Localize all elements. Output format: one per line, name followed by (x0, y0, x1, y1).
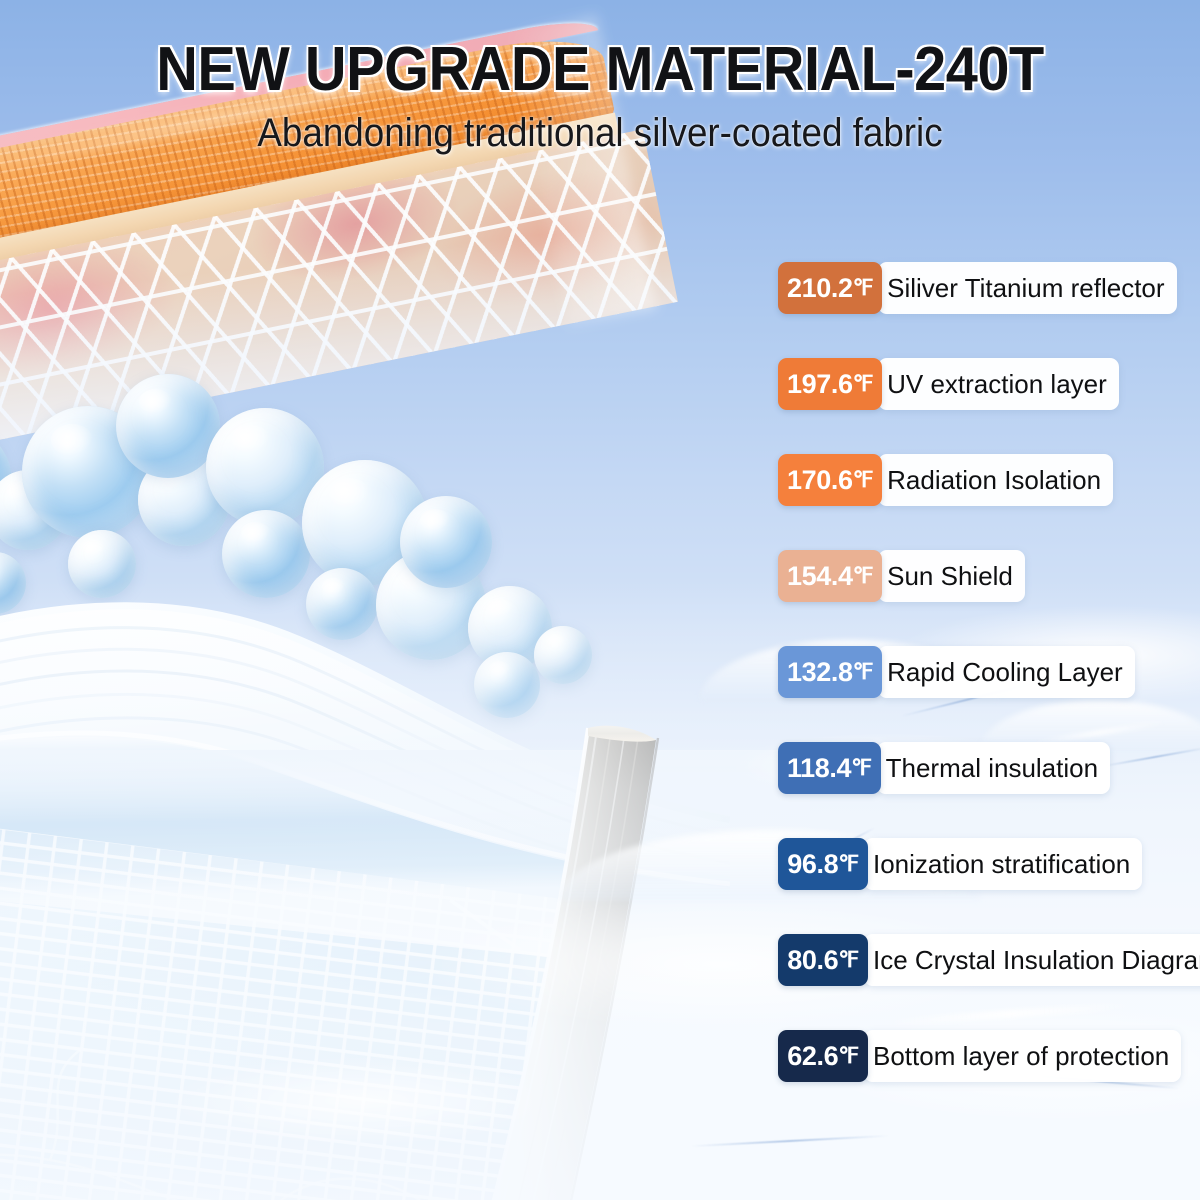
temperature-value: 132.8 (787, 657, 853, 688)
layer-name-label: Bottom layer of protection (864, 1030, 1181, 1082)
temperature-value: 170.6 (787, 465, 853, 496)
layer-name-label: Thermal insulation (877, 742, 1110, 794)
temperature-badge: 62.6℉ (778, 1030, 868, 1082)
layer-name-label: Siliver Titanium reflector (878, 262, 1176, 314)
temperature-badge: 80.6℉ (778, 934, 868, 986)
layer-legend-row: 96.8℉Ionization stratification (778, 838, 1178, 890)
temperature-badge: 118.4℉ (778, 742, 881, 794)
layer-name-label: Sun Shield (878, 550, 1025, 602)
heading-block: NEW UPGRADE MATERIAL-240T Abandoning tra… (0, 0, 1200, 156)
layer-name-label: Ionization stratification (864, 838, 1142, 890)
temperature-unit: ℉ (853, 275, 874, 301)
temperature-badge: 96.8℉ (778, 838, 868, 890)
layer-legend-row: 154.4℉Sun Shield (778, 550, 1178, 602)
page-title: NEW UPGRADE MATERIAL-240T (42, 0, 1158, 105)
layer-name-label: Rapid Cooling Layer (878, 646, 1135, 698)
temperature-badge: 210.2℉ (778, 262, 882, 314)
temperature-unit: ℉ (838, 851, 859, 877)
ice-vein (690, 1135, 890, 1147)
layer-legend-row: 170.6℉Radiation Isolation (778, 454, 1178, 506)
temperature-badge: 154.4℉ (778, 550, 882, 602)
temperature-value: 62.6 (787, 1041, 838, 1072)
layer-legend-row: 132.8℉Rapid Cooling Layer (778, 646, 1178, 698)
page-subtitle: Abandoning traditional silver-coated fab… (48, 111, 1152, 156)
temperature-value: 118.4 (787, 753, 851, 784)
layer-legend-list: 210.2℉Siliver Titanium reflector197.6℉UV… (778, 262, 1178, 1082)
temperature-value: 80.6 (787, 945, 838, 976)
layer-legend-row: 80.6℉Ice Crystal Insulation Diagram (778, 934, 1178, 986)
temperature-value: 210.2 (787, 273, 853, 304)
layer-name-label: Ice Crystal Insulation Diagram (864, 934, 1200, 986)
temperature-badge: 197.6℉ (778, 358, 882, 410)
temperature-unit: ℉ (853, 659, 874, 685)
temperature-unit: ℉ (851, 755, 872, 781)
temperature-unit: ℉ (853, 563, 874, 589)
bead (116, 374, 220, 478)
layer-name-label: Radiation Isolation (878, 454, 1113, 506)
temperature-value: 197.6 (787, 369, 853, 400)
temperature-unit: ℉ (838, 947, 859, 973)
temperature-unit: ℉ (853, 467, 874, 493)
layer-legend-row: 197.6℉UV extraction layer (778, 358, 1178, 410)
layer-legend-row: 210.2℉Siliver Titanium reflector (778, 262, 1178, 314)
layer-name-label: UV extraction layer (878, 358, 1119, 410)
temperature-badge: 170.6℉ (778, 454, 882, 506)
layer-legend-row: 62.6℉Bottom layer of protection (778, 1030, 1178, 1082)
temperature-unit: ℉ (853, 371, 874, 397)
temperature-value: 96.8 (787, 849, 838, 880)
layer-legend-row: 118.4℉Thermal insulation (778, 742, 1178, 794)
temperature-value: 154.4 (787, 561, 853, 592)
infographic-canvas: NEW UPGRADE MATERIAL-240T Abandoning tra… (0, 0, 1200, 1200)
temperature-badge: 132.8℉ (778, 646, 882, 698)
temperature-unit: ℉ (838, 1043, 859, 1069)
